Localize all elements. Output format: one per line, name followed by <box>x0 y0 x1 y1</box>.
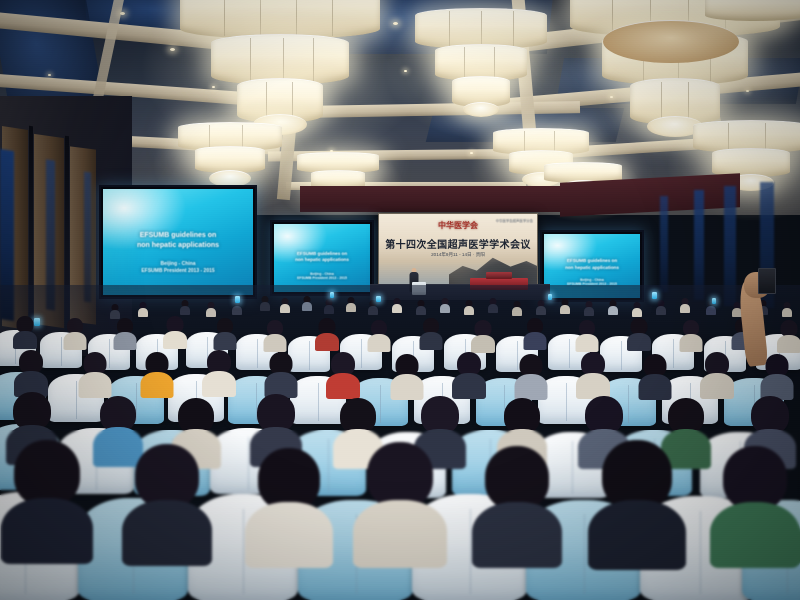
audience-member <box>778 320 800 350</box>
audience-member <box>478 446 556 546</box>
mobile-phone-screen <box>652 292 657 299</box>
audience-member <box>560 299 570 313</box>
wall-wood-panel <box>70 146 96 324</box>
banner-corner-text: 中华医学会超声医学分会 <box>496 218 533 223</box>
mobile-phone-screen <box>376 296 381 302</box>
audience-member <box>164 316 186 346</box>
audience-member <box>702 352 732 392</box>
audience-member <box>64 318 86 348</box>
audience-member <box>782 302 792 316</box>
slide-subtitle-center-left: Beijing - China EFSUMB President 2013 - … <box>274 272 370 282</box>
audience-member <box>680 298 690 312</box>
audience-member <box>464 300 474 314</box>
wall-accent-uplight <box>724 186 736 306</box>
chandelier <box>198 0 348 16</box>
audience-member <box>110 304 120 318</box>
stage-banner: 中华医学会 第十四次全国超声医学学术会议 2014年9月11 - 14日 · 贵… <box>378 213 538 287</box>
slide-subtitle-right: Beijing - China EFSUMB President 2013 - … <box>544 278 640 288</box>
audience-member <box>454 352 484 392</box>
audience-member <box>440 298 450 312</box>
chandelier-bottom-disc <box>463 102 499 117</box>
audience-member <box>420 318 442 348</box>
audience-member <box>142 352 172 392</box>
chandelier <box>700 0 800 40</box>
mobile-phone-screen <box>235 296 240 303</box>
audience-member <box>264 320 286 350</box>
projection-screen-right-surface: EFSUMB guidelines on non hepatic applica… <box>544 234 640 298</box>
audience-member <box>16 350 46 390</box>
audience-member <box>368 300 378 314</box>
audience-member <box>578 352 608 392</box>
chandelier-tier-mid <box>195 146 265 173</box>
photograph-conference-hall: EFSUMB guidelines on non hepatic applica… <box>0 0 800 600</box>
audience-member <box>516 354 546 394</box>
wall-accent-uplight <box>84 172 91 303</box>
audience-member <box>206 302 216 316</box>
wall-accent-uplight <box>694 190 704 300</box>
audience-member <box>716 446 794 546</box>
audience-member <box>80 352 110 392</box>
podium <box>412 282 426 295</box>
audience-member <box>260 296 270 310</box>
audience-member <box>632 302 642 316</box>
mobile-phone-screen <box>548 294 552 300</box>
recessed-spotlight <box>120 12 125 15</box>
recessed-spotlight <box>48 74 51 76</box>
audience-member <box>680 320 702 350</box>
audience-member <box>472 320 494 350</box>
audience-member <box>328 352 358 392</box>
audience-member <box>302 296 312 310</box>
slide-subtitle-left: Beijing - China EFSUMB President 2013 - … <box>103 261 253 275</box>
wall-recess-slot <box>29 126 33 333</box>
audience-member <box>204 350 234 390</box>
wall-maroon-band <box>300 186 560 212</box>
audience-member <box>584 301 594 315</box>
chandelier-tier-mid <box>712 148 790 177</box>
audience-member <box>488 298 498 312</box>
audience-member <box>596 440 678 544</box>
audience-member <box>512 301 522 315</box>
wall-accent-uplight <box>660 196 668 292</box>
audience-member <box>180 300 190 314</box>
projection-screen-left-surface: EFSUMB guidelines on non hepatic applica… <box>103 189 253 295</box>
slide-title-left: EFSUMB guidelines on non hepatic applica… <box>103 231 253 250</box>
slide-title-center-left: EFSUMB guidelines on non hepatic applica… <box>274 251 370 263</box>
audience-member <box>250 448 328 548</box>
audience-member <box>368 320 390 350</box>
audience-member <box>608 300 618 314</box>
projection-screen-left: EFSUMB guidelines on non hepatic applica… <box>99 185 257 299</box>
audience-member <box>536 300 546 314</box>
banner-title-text: 第十四次全国超声医学学术会议 <box>379 236 537 251</box>
audience-member <box>8 440 86 540</box>
projection-screen-right: EFSUMB guidelines on non hepatic applica… <box>540 230 644 302</box>
audience-member <box>214 318 236 348</box>
audience-member <box>266 352 296 392</box>
audience-member <box>524 318 546 348</box>
audience-member <box>316 318 338 348</box>
audience-member <box>640 354 670 394</box>
wall-accent-uplight <box>46 159 55 310</box>
audience-member <box>138 302 148 316</box>
audience-member <box>114 318 136 348</box>
audience-member <box>416 300 426 314</box>
audience-member <box>254 394 298 452</box>
recessed-spotlight <box>470 152 473 154</box>
mobile-phone-screen <box>712 298 716 304</box>
chandelier-tier-top <box>705 0 800 21</box>
audience-member <box>14 316 36 346</box>
audience-member <box>392 298 402 312</box>
mobile-phone-device <box>758 268 776 294</box>
chandelier-tier-top <box>415 8 547 49</box>
banner-date-text: 2014年9月11 - 14日 · 贵阳 <box>379 252 537 258</box>
audience-member <box>656 300 666 314</box>
head-table-riser <box>486 272 512 279</box>
audience-member <box>128 444 206 544</box>
audience-member <box>280 298 290 312</box>
audience-member <box>392 354 422 394</box>
wall-recess-slot <box>65 136 69 333</box>
audience-member <box>628 318 650 348</box>
projection-screen-center-left: EFSUMB guidelines on non hepatic applica… <box>270 220 374 296</box>
head-table <box>470 278 528 290</box>
audience-member <box>324 299 334 313</box>
slide-title-right: EFSUMB guidelines on non hepatic applica… <box>544 258 640 270</box>
mobile-phone-screen <box>330 292 334 298</box>
wall-accent-uplight <box>0 149 14 321</box>
audience-member <box>346 297 356 311</box>
audience-member <box>576 320 598 350</box>
recessed-spotlight <box>393 22 398 25</box>
audience-member <box>360 442 440 544</box>
chandelier <box>406 8 556 138</box>
projection-screen-center-left-surface: EFSUMB guidelines on non hepatic applica… <box>274 224 370 292</box>
